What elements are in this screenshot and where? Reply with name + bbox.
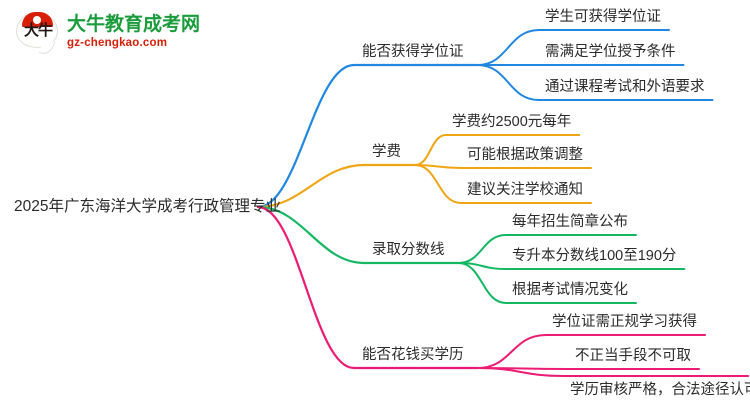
connector-line — [415, 135, 446, 165]
connector-line — [477, 335, 546, 368]
branch-node-label[interactable]: 录取分数线 — [372, 243, 445, 258]
connector-line — [477, 30, 539, 65]
connector-line — [258, 65, 354, 207]
leaf-node-label[interactable]: 每年招生简章公布 — [512, 215, 628, 230]
leaf-node-label[interactable]: 不正当手段不可取 — [575, 349, 691, 364]
mindmap-canvas: 大牛 大牛教育成考网 gz-chengkao.com 2025年广东海洋大学成考… — [0, 0, 750, 410]
root-node-label[interactable]: 2025年广东海洋大学成考行政管理专业 — [14, 199, 281, 215]
leaf-node-label[interactable]: 建议关注学校通知 — [467, 183, 583, 198]
leaf-node-label[interactable]: 通过课程考试和外语要求 — [545, 80, 705, 95]
leaf-node-label[interactable]: 根据考试情况变化 — [512, 283, 628, 298]
branch-node-label[interactable]: 能否获得学位证 — [362, 45, 464, 60]
leaf-node-label[interactable]: 专升本分数线100至190分 — [512, 249, 676, 264]
leaf-node-label[interactable]: 学位证需正规学习获得 — [552, 315, 697, 330]
leaf-node-label[interactable]: 学生可获得学位证 — [545, 10, 661, 25]
leaf-node-label[interactable]: 可能根据政策调整 — [467, 148, 583, 163]
connector-line — [415, 165, 461, 203]
connector-line — [458, 235, 506, 263]
leaf-node-label[interactable]: 学费约2500元每年 — [452, 115, 571, 130]
leaf-node-label[interactable]: 需满足学位授予条件 — [545, 45, 676, 60]
connector-line — [477, 65, 539, 100]
leaf-node-label[interactable]: 学历审核严格，合法途径认可 — [570, 383, 750, 398]
branch-node-label[interactable]: 学费 — [372, 145, 401, 160]
branch-node-label[interactable]: 能否花钱买学历 — [362, 348, 464, 363]
